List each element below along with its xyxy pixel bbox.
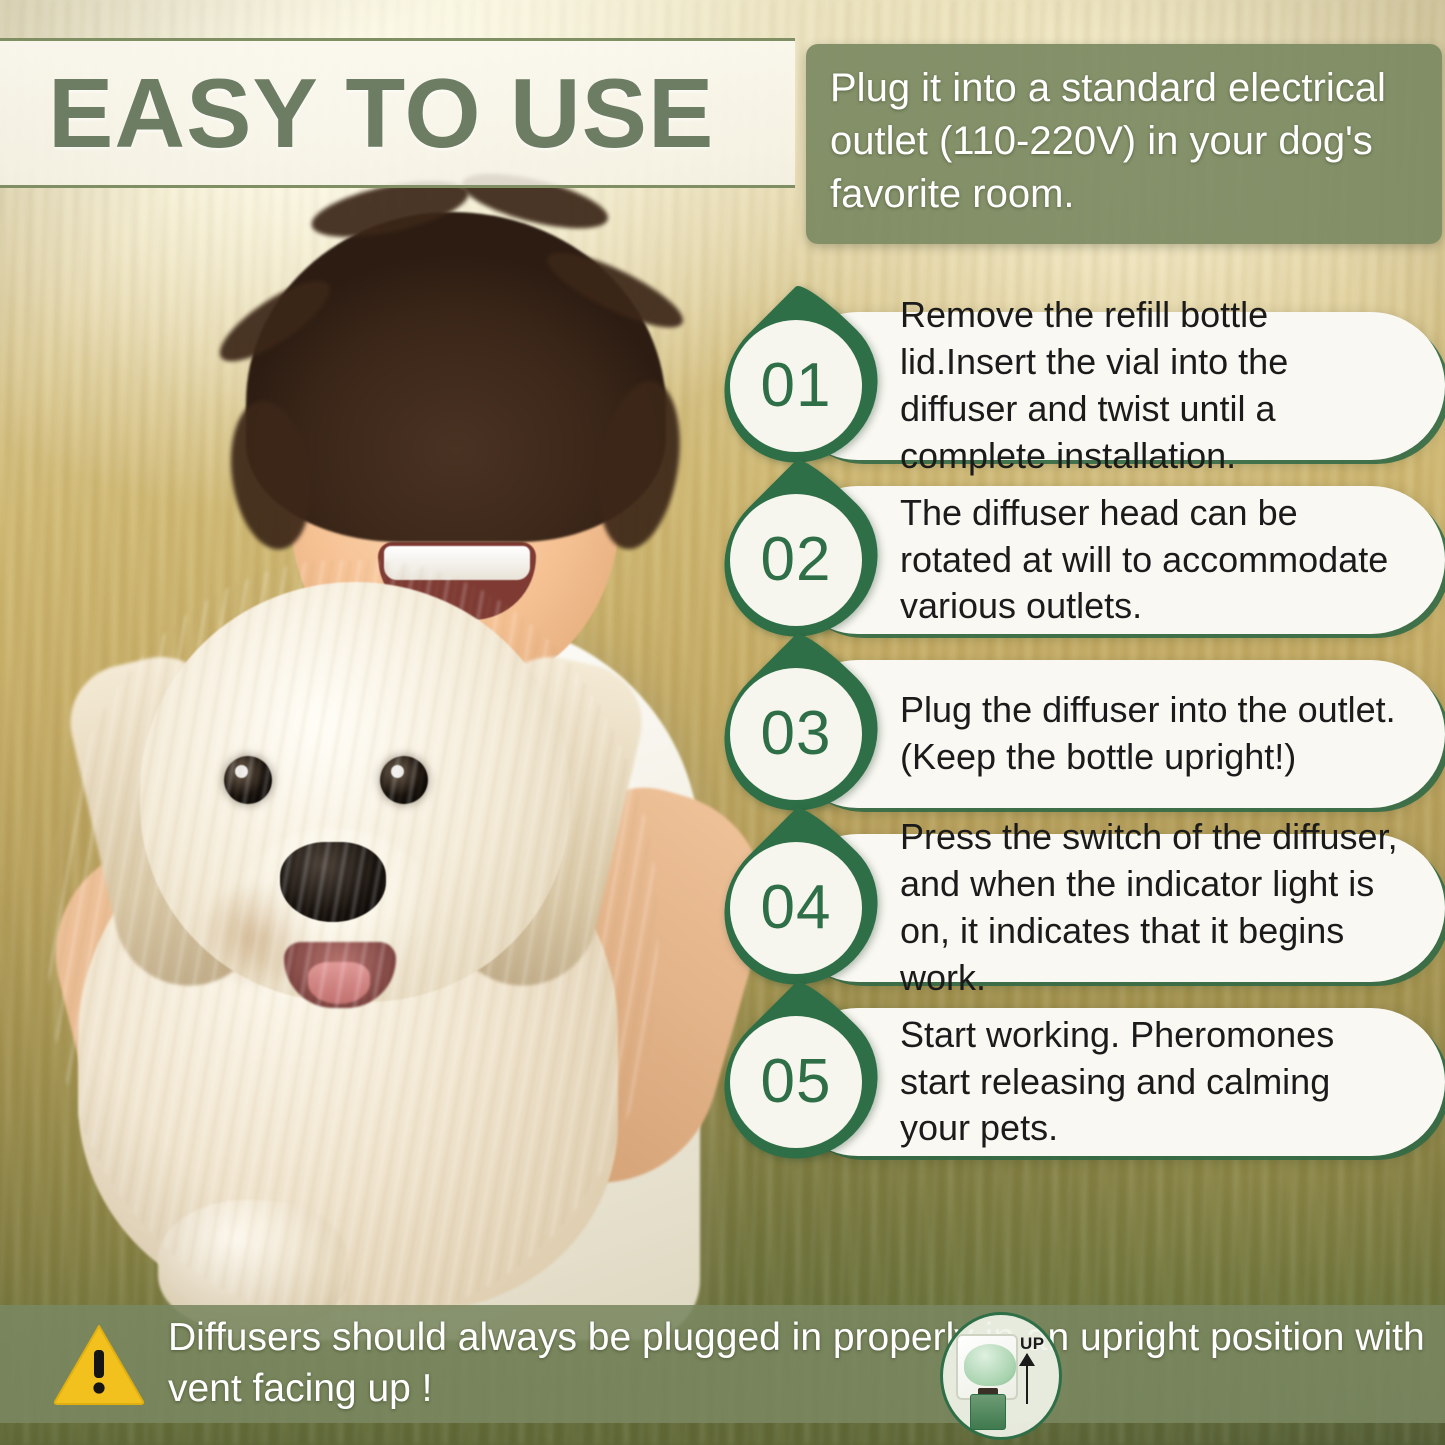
dog-tongue [308,962,370,1004]
dog-nose [280,842,386,922]
step-description: The diffuser head can be rotated at will… [900,490,1445,630]
step-number-badge: 01 [722,312,880,460]
step-number: 02 [761,529,832,591]
infographic-canvas: EASY TO USE Plug it into a standard elec… [0,0,1445,1445]
step-description: Remove the refill bottle lid.Insert the … [900,292,1445,479]
step-description: Press the switch of the diffuser, and wh… [900,814,1445,1001]
step-item-01: 01 Remove the refill bottle lid.Insert t… [722,312,1445,460]
intro-text: Plug it into a standard electrical outle… [830,62,1420,220]
badge-inner-circle: 04 [730,842,862,974]
badge-inner-circle: 05 [730,1016,862,1148]
diffuser-orientation-icon: UP [940,1312,1062,1440]
dog-figure [48,560,658,1320]
up-arrow-icon [1026,1354,1028,1404]
step-item-04: 04 Press the switch of the diffuser, and… [722,834,1445,982]
title-band: EASY TO USE [0,38,795,188]
step-item-03: 03 Plug the diffuser into the outlet. (K… [722,660,1445,808]
step-description: Plug the diffuser into the outlet. (Keep… [900,687,1445,781]
step-number-badge: 02 [722,486,880,634]
up-label: UP [1020,1334,1045,1354]
step-number-badge: 05 [722,1008,880,1156]
warning-bar: Diffusers should always be plugged in pr… [0,1305,1445,1423]
step-number-badge: 04 [722,834,880,982]
dog-eye-right [380,756,428,804]
badge-inner-circle: 01 [730,320,862,452]
steps-list: 01 Remove the refill bottle lid.Insert t… [722,312,1445,1182]
diffuser-refill-bottle [970,1394,1006,1430]
diffuser-dome-head [964,1344,1016,1386]
warning-text: Diffusers should always be plugged in pr… [168,1313,1445,1414]
step-item-05: 05 Start working. Pheromones start relea… [722,1008,1445,1156]
warning-triangle-icon [52,1322,146,1406]
step-description: Start working. Pheromones start releasin… [900,1012,1445,1152]
badge-inner-circle: 03 [730,668,862,800]
step-number: 04 [761,877,832,939]
step-number: 05 [761,1051,832,1113]
dog-eye-left [224,756,272,804]
page-title: EASY TO USE [0,64,714,162]
step-number: 01 [761,355,832,417]
step-number: 03 [761,703,832,765]
intro-callout-box: Plug it into a standard electrical outle… [806,44,1442,244]
badge-inner-circle: 02 [730,494,862,626]
step-item-02: 02 The diffuser head can be rotated at w… [722,486,1445,634]
step-number-badge: 03 [722,660,880,808]
